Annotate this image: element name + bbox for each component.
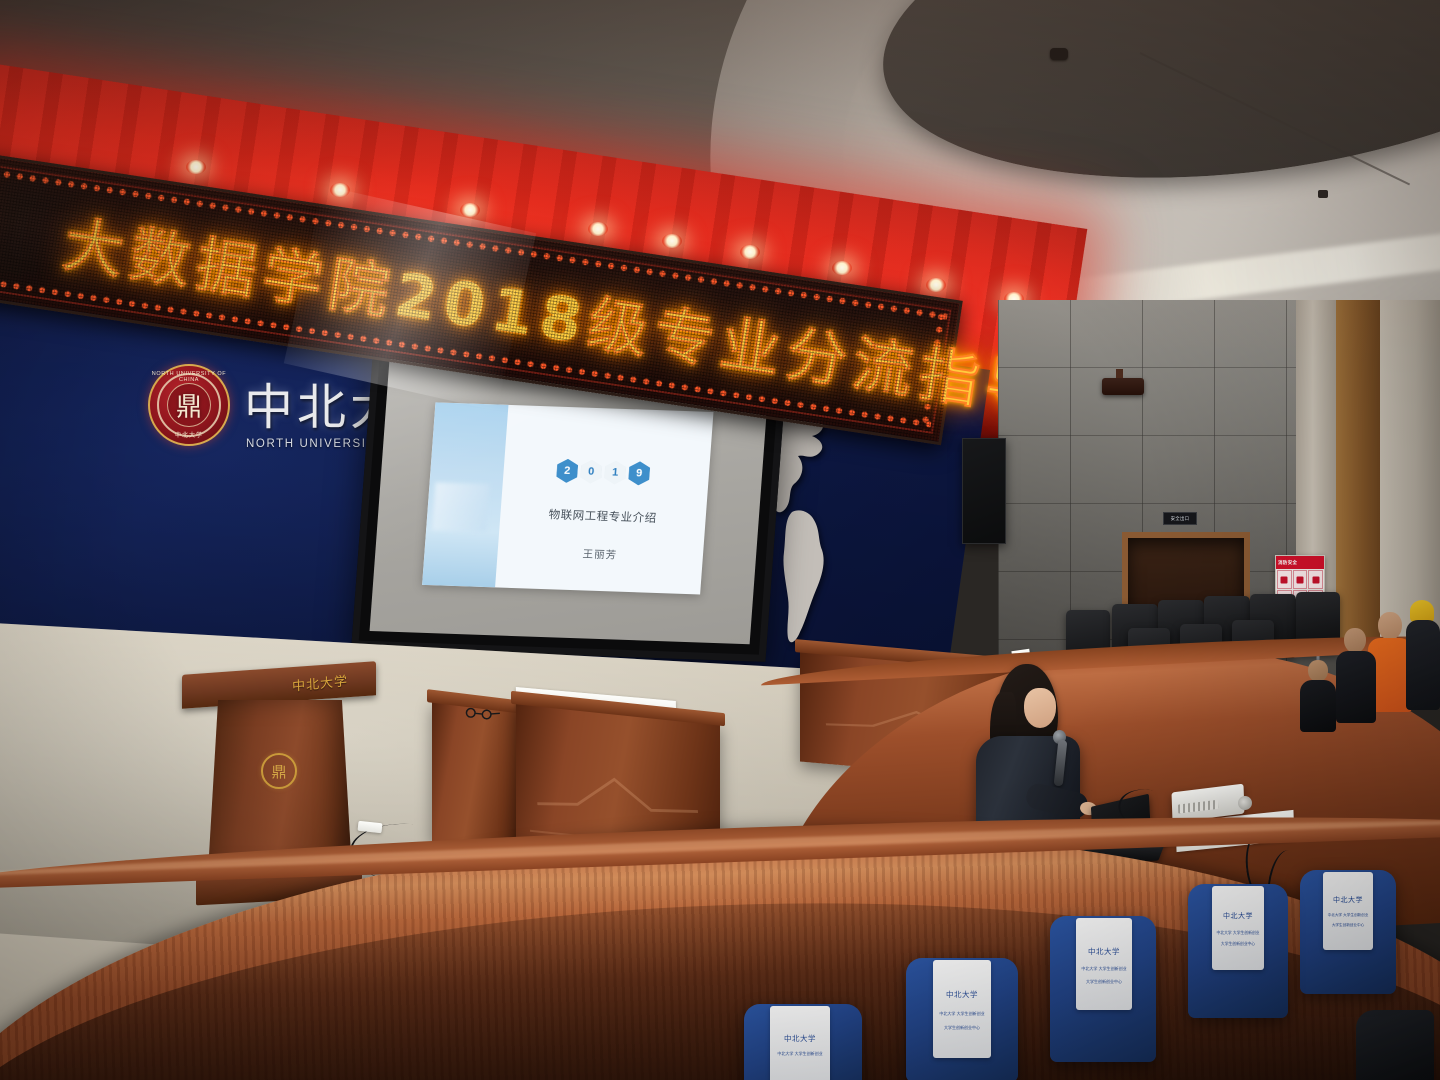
seat-cover-line1: 中北大学 大学生创新创业: [1081, 966, 1126, 972]
seat-cover-line1: 中北大学 大学生创新创业: [939, 1011, 984, 1017]
university-seal-icon: NORTH UNIVERSITY OF CHINA 鼎 中北大学: [148, 364, 230, 446]
downlight-icon: [186, 160, 206, 174]
seat-cover-line2: 大学生创新创业中心: [1332, 923, 1364, 928]
door-frame: [1336, 300, 1380, 650]
student-head: [1308, 660, 1328, 682]
slide-author: 王丽芳: [497, 543, 703, 565]
poster-cell: [1277, 570, 1292, 589]
ceiling-projector-mount: [1102, 378, 1144, 395]
presentation-slide: 2 0 1 9 物联网工程专业介绍 王丽芳: [422, 402, 713, 594]
poster-header-text: 消防安全: [1278, 560, 1297, 566]
seat-cover-line1: 中北大学 大学生创新创业: [777, 1051, 822, 1057]
year-digit-hex: 0: [580, 459, 603, 484]
seat-cover-line2: 大学生创新创业中心: [1086, 979, 1122, 985]
seat-headrest-cover: 中北大学 中北大学 大学生创新创业 大学生创新创业中心: [933, 960, 991, 1058]
auditorium-photo: NORTH UNIVERSITY OF CHINA 鼎 中北大学 中北大学 NO…: [0, 0, 1440, 1080]
seat-cover-logo: 中北大学: [946, 989, 978, 1000]
seat-headrest-cover: 中北大学 中北大学 大学生创新创业 大学生创新创业中心: [1212, 886, 1264, 970]
student-torso: [1406, 620, 1440, 710]
downlight-icon: [662, 234, 682, 248]
presenter-face: [1024, 688, 1056, 728]
downlight-icon: [330, 183, 350, 197]
podium-emblem-icon: 鼎: [261, 753, 297, 789]
seat-cover-line2: 大学生创新创业中心: [944, 1025, 980, 1031]
corridor-beyond-door: [1380, 300, 1440, 650]
seat-headrest-cover: 中北大学 中北大学 大学生创新创业 大学生创新创业中心: [1323, 872, 1373, 950]
student-yellow-hat: [1406, 600, 1440, 710]
seat-cover-logo: 中北大学: [1333, 895, 1363, 905]
slide-left-image: [432, 483, 489, 532]
student-foreground-right: [1356, 1010, 1434, 1080]
year-digit-hex: 9: [628, 461, 651, 486]
student-seated-left: [1300, 660, 1336, 730]
exit-sign: 安全出口: [1163, 512, 1197, 525]
seat-cover-line1: 中北大学 大学生创新创业: [1328, 913, 1369, 918]
wall-monitor: [962, 438, 1006, 544]
seal-glyph: 鼎: [150, 387, 228, 424]
ceiling-vent-icon: [1318, 190, 1328, 198]
stage-table-left[interactable]: [432, 700, 518, 853]
seat-headrest-cover: 中北大学 中北大学 大学生创新创业: [770, 1006, 830, 1080]
slide-left-panel: [422, 402, 507, 586]
seal-arc-bottom-text: 中北大学: [150, 430, 228, 439]
student-hat-icon: [1410, 600, 1434, 622]
table-wave-carving: [534, 760, 701, 832]
slide-year-badges: 2 0 1 9: [512, 442, 694, 503]
poster-cell: [1293, 570, 1308, 589]
ceiling-speaker-icon: [1050, 48, 1068, 60]
seal-arc-top-text: NORTH UNIVERSITY OF CHINA: [150, 371, 228, 383]
student-dark-jacket: [1336, 628, 1376, 722]
student-torso: [1300, 680, 1336, 732]
student-head: [1344, 628, 1366, 653]
downlight-icon: [588, 222, 608, 236]
seat-headrest-cover: 中北大学 中北大学 大学生创新创业 大学生创新创业中心: [1076, 918, 1132, 1010]
seat-cover-line1: 中北大学 大学生创新创业: [1217, 930, 1260, 936]
downlight-icon: [460, 203, 480, 217]
poster-header: 消防安全: [1276, 556, 1324, 569]
student-head: [1378, 612, 1402, 640]
student-torso: [1336, 651, 1376, 723]
slide-title: 物联网工程专业介绍: [499, 505, 705, 528]
year-digit-hex: 1: [604, 460, 627, 485]
poster-cell: [1308, 570, 1323, 589]
seat-cover-logo: 中北大学: [1088, 946, 1120, 957]
seat-cover-line2: 大学生创新创业中心: [1221, 941, 1255, 947]
seat-cover-logo: 中北大学: [784, 1033, 816, 1044]
downlight-icon: [740, 245, 760, 259]
year-digit-hex: 2: [556, 459, 579, 484]
exit-sign-text: 安全出口: [1171, 516, 1190, 522]
student-torso: [1356, 1010, 1434, 1080]
downlight-icon: [832, 261, 852, 275]
downlight-icon: [926, 278, 946, 292]
seat-cover-logo: 中北大学: [1223, 911, 1253, 921]
